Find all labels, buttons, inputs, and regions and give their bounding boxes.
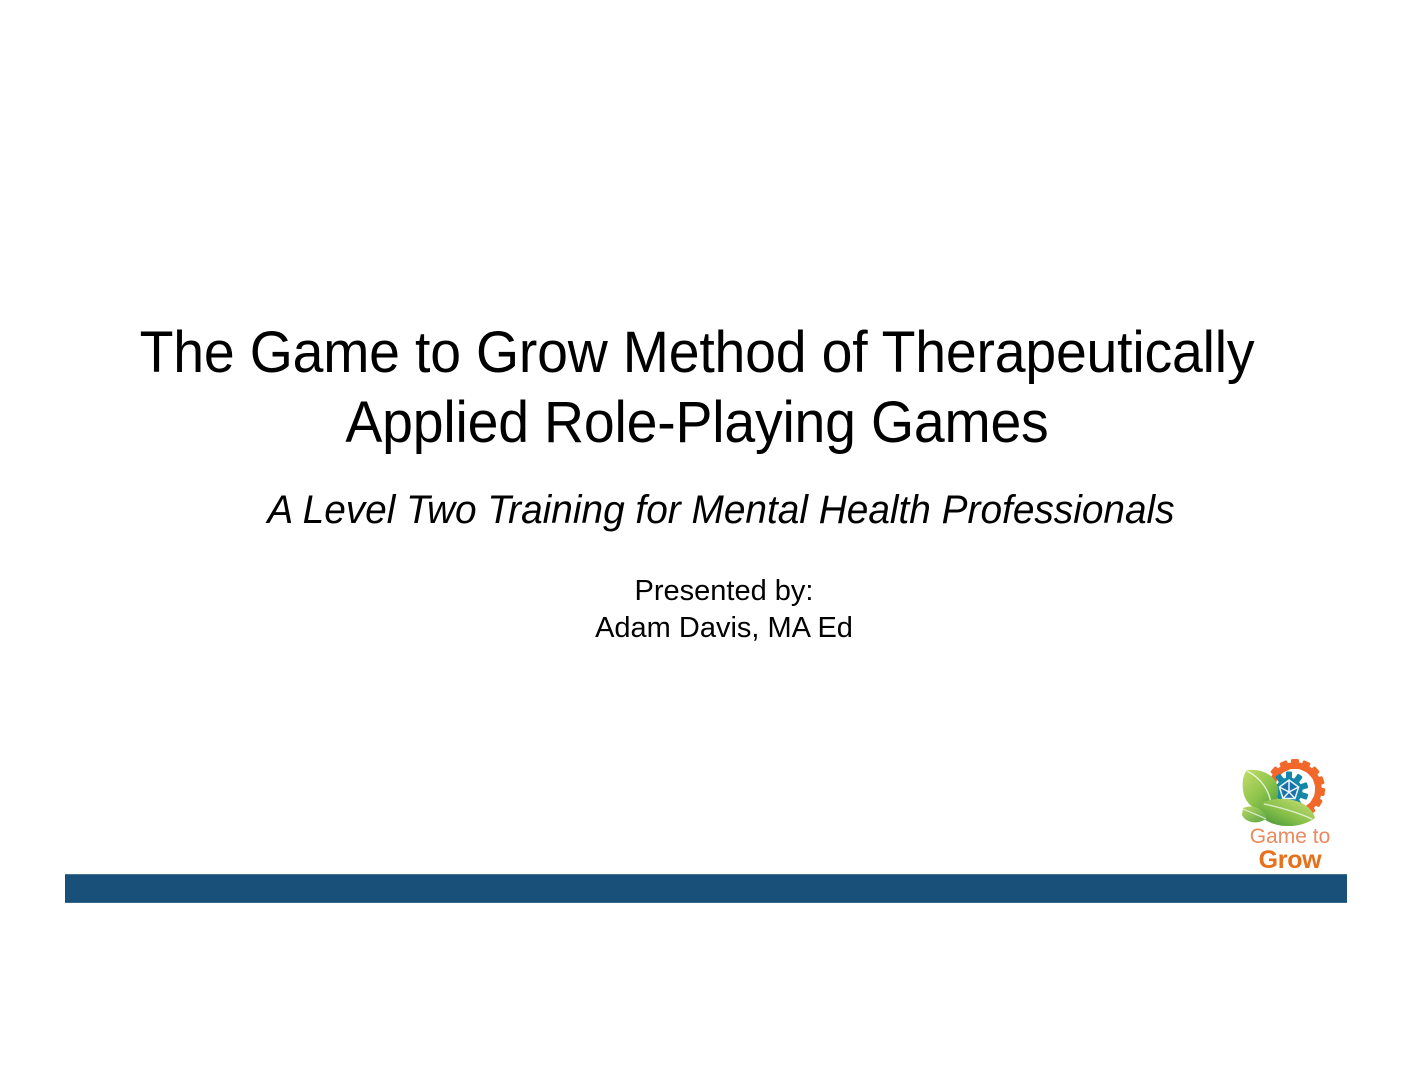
presenter-block: Presented by: Adam Davis, MA Ed: [123, 573, 1325, 647]
bottom-accent-bar: [65, 874, 1347, 903]
presentation-slide: The Game to Grow Method of Therapeutical…: [0, 0, 1408, 1088]
logo-text-line-2: Grow: [1241, 848, 1339, 873]
title-block: The Game to Grow Method of Therapeutical…: [96, 318, 1298, 458]
game-to-grow-logo: Game to Grow: [1241, 758, 1339, 870]
logo-wordmark: Game to Grow: [1241, 826, 1339, 873]
subtitle-block: A Level Two Training for Mental Health P…: [120, 486, 1322, 534]
presenter-name: Adam Davis, MA Ed: [123, 610, 1325, 647]
page-subtitle: A Level Two Training for Mental Health P…: [138, 486, 1304, 534]
logo-mark-icon: [1241, 758, 1339, 830]
presented-by-label: Presented by:: [123, 573, 1325, 610]
page-title: The Game to Grow Method of Therapeutical…: [123, 318, 1271, 458]
logo-text-line-1: Game to: [1241, 826, 1339, 847]
